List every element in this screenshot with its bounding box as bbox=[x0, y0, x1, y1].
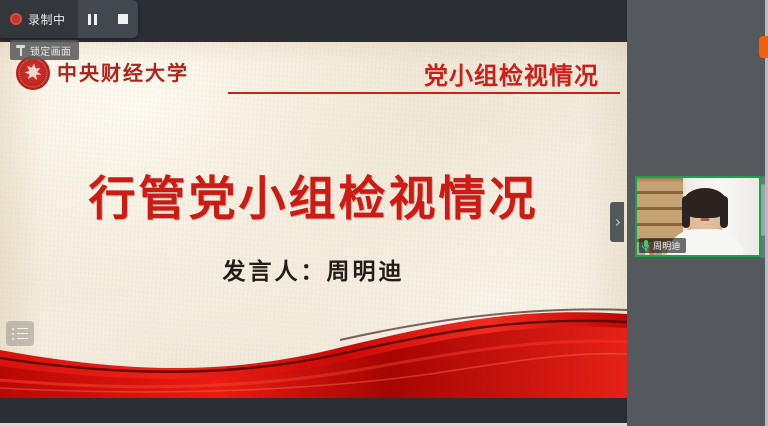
slide-header-title: 党小组检视情况 bbox=[424, 56, 599, 91]
mouth bbox=[701, 218, 710, 221]
slide-speaker-line: 发言人：周明迪 bbox=[0, 252, 627, 286]
lock-screen-label: 锁定画面 bbox=[30, 43, 71, 58]
participants-video-panel: 周明迪 bbox=[627, 0, 768, 426]
edge-notification-badge[interactable] bbox=[759, 36, 768, 58]
slide-header: 中央财经大学 党小组检视情况 bbox=[0, 42, 627, 104]
list-dot bbox=[12, 338, 14, 340]
slide-header-divider bbox=[228, 92, 620, 94]
chevron-right-icon bbox=[613, 218, 620, 225]
slide-ribbon-decoration bbox=[0, 288, 627, 398]
stop-icon bbox=[118, 14, 128, 24]
list-bar bbox=[17, 328, 28, 330]
recording-status: 录制中 bbox=[10, 11, 78, 28]
shared-slide: 中央财经大学 党小组检视情况 行管党小组检视情况 发言人：周明迪 bbox=[0, 42, 627, 398]
recording-actions bbox=[78, 0, 138, 38]
stage-bottom-letterbox bbox=[0, 398, 627, 426]
pause-recording-button[interactable] bbox=[78, 0, 108, 38]
meeting-screen-share-window: 中央财经大学 党小组检视情况 行管党小组检视情况 发言人：周明迪 bbox=[0, 0, 768, 426]
list-bar bbox=[17, 333, 28, 335]
list-bar bbox=[17, 338, 28, 340]
stop-recording-button[interactable] bbox=[108, 0, 138, 38]
list-dot bbox=[12, 328, 14, 330]
lock-screen-pill[interactable]: 锁定画面 bbox=[10, 40, 79, 60]
participant-hair bbox=[683, 188, 727, 218]
pause-icon bbox=[88, 14, 98, 25]
recording-status-label: 录制中 bbox=[28, 11, 66, 28]
screen-share-stage: 中央财经大学 党小组检视情况 行管党小组检视情况 发言人：周明迪 bbox=[0, 0, 627, 426]
university-brand: 中央财经大学 bbox=[16, 56, 189, 90]
slide-list-icon[interactable] bbox=[6, 321, 34, 346]
list-dot bbox=[12, 333, 14, 335]
microphone-on-icon bbox=[642, 240, 650, 251]
record-dot-icon bbox=[10, 13, 22, 25]
recording-control-bar: 录制中 bbox=[0, 0, 138, 38]
participant-name-chip: 周明迪 bbox=[639, 238, 686, 253]
pin-icon bbox=[16, 45, 25, 56]
panel-collapse-handle[interactable] bbox=[610, 202, 624, 242]
university-seal-icon bbox=[16, 56, 50, 90]
participant-video-tile[interactable]: 周明迪 bbox=[635, 176, 761, 257]
university-name: 中央财经大学 bbox=[57, 63, 189, 83]
slide-main-title: 行管党小组检视情况 bbox=[0, 174, 627, 226]
participant-name: 周明迪 bbox=[653, 239, 681, 252]
